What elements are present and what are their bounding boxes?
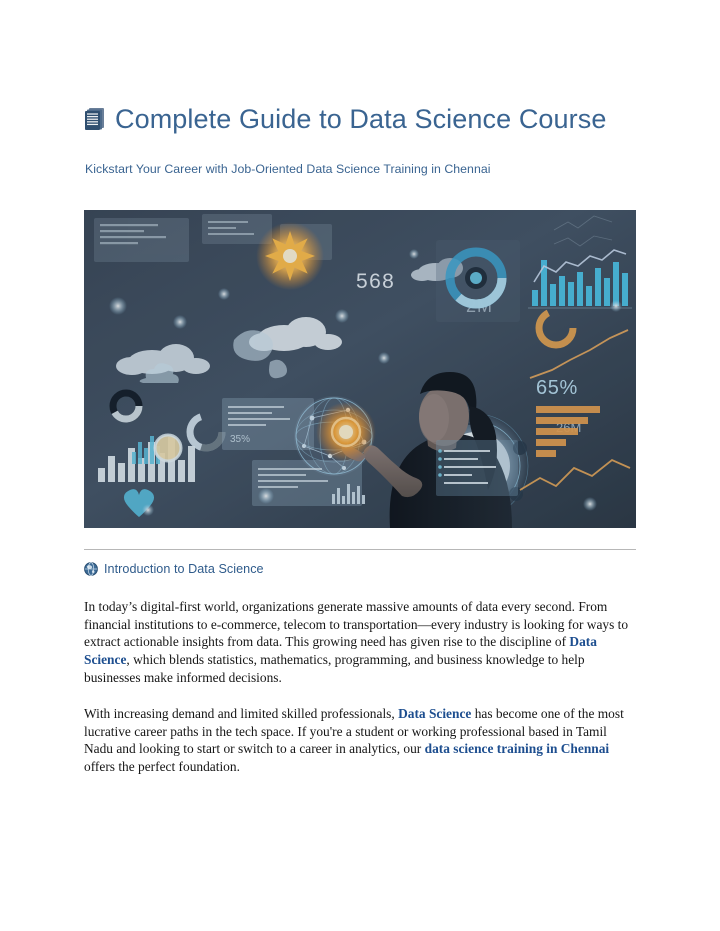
section-divider [84, 549, 636, 550]
globe-icon [84, 562, 98, 576]
pages-document-icon [84, 107, 106, 131]
page-title: Complete Guide to Data Science Course [115, 104, 606, 134]
intro-paragraph-1: In today’s digital-first world, organiza… [84, 598, 636, 686]
section-heading-row: Introduction to Data Science [84, 561, 636, 577]
paragraph-2-text-part-3: offers the perfect foundation. [84, 759, 240, 774]
data-science-hero-image: 568 2M [84, 210, 636, 528]
page-subtitle: Kickstart Your Career with Job-Oriented … [85, 161, 636, 177]
paragraph-1-text-part-1: In today’s digital-first world, organiza… [84, 599, 628, 649]
document-page: Complete Guide to Data Science Course Ki… [0, 0, 720, 931]
intro-paragraph-2: With increasing demand and limited skill… [84, 705, 636, 775]
paragraph-1-text-part-2: , which blends statistics, mathematics, … [84, 652, 585, 685]
document-title-row: Complete Guide to Data Science Course [84, 86, 636, 152]
paragraph-2-text-part-1: With increasing demand and limited skill… [84, 706, 398, 721]
section-heading-label: Introduction to Data Science [104, 561, 264, 577]
paragraph-2-accent-data-science: Data Science [398, 706, 471, 721]
paragraph-2-accent-training-link[interactable]: data science training in Chennai [425, 741, 610, 756]
document-content: Complete Guide to Data Science Course Ki… [84, 86, 636, 776]
